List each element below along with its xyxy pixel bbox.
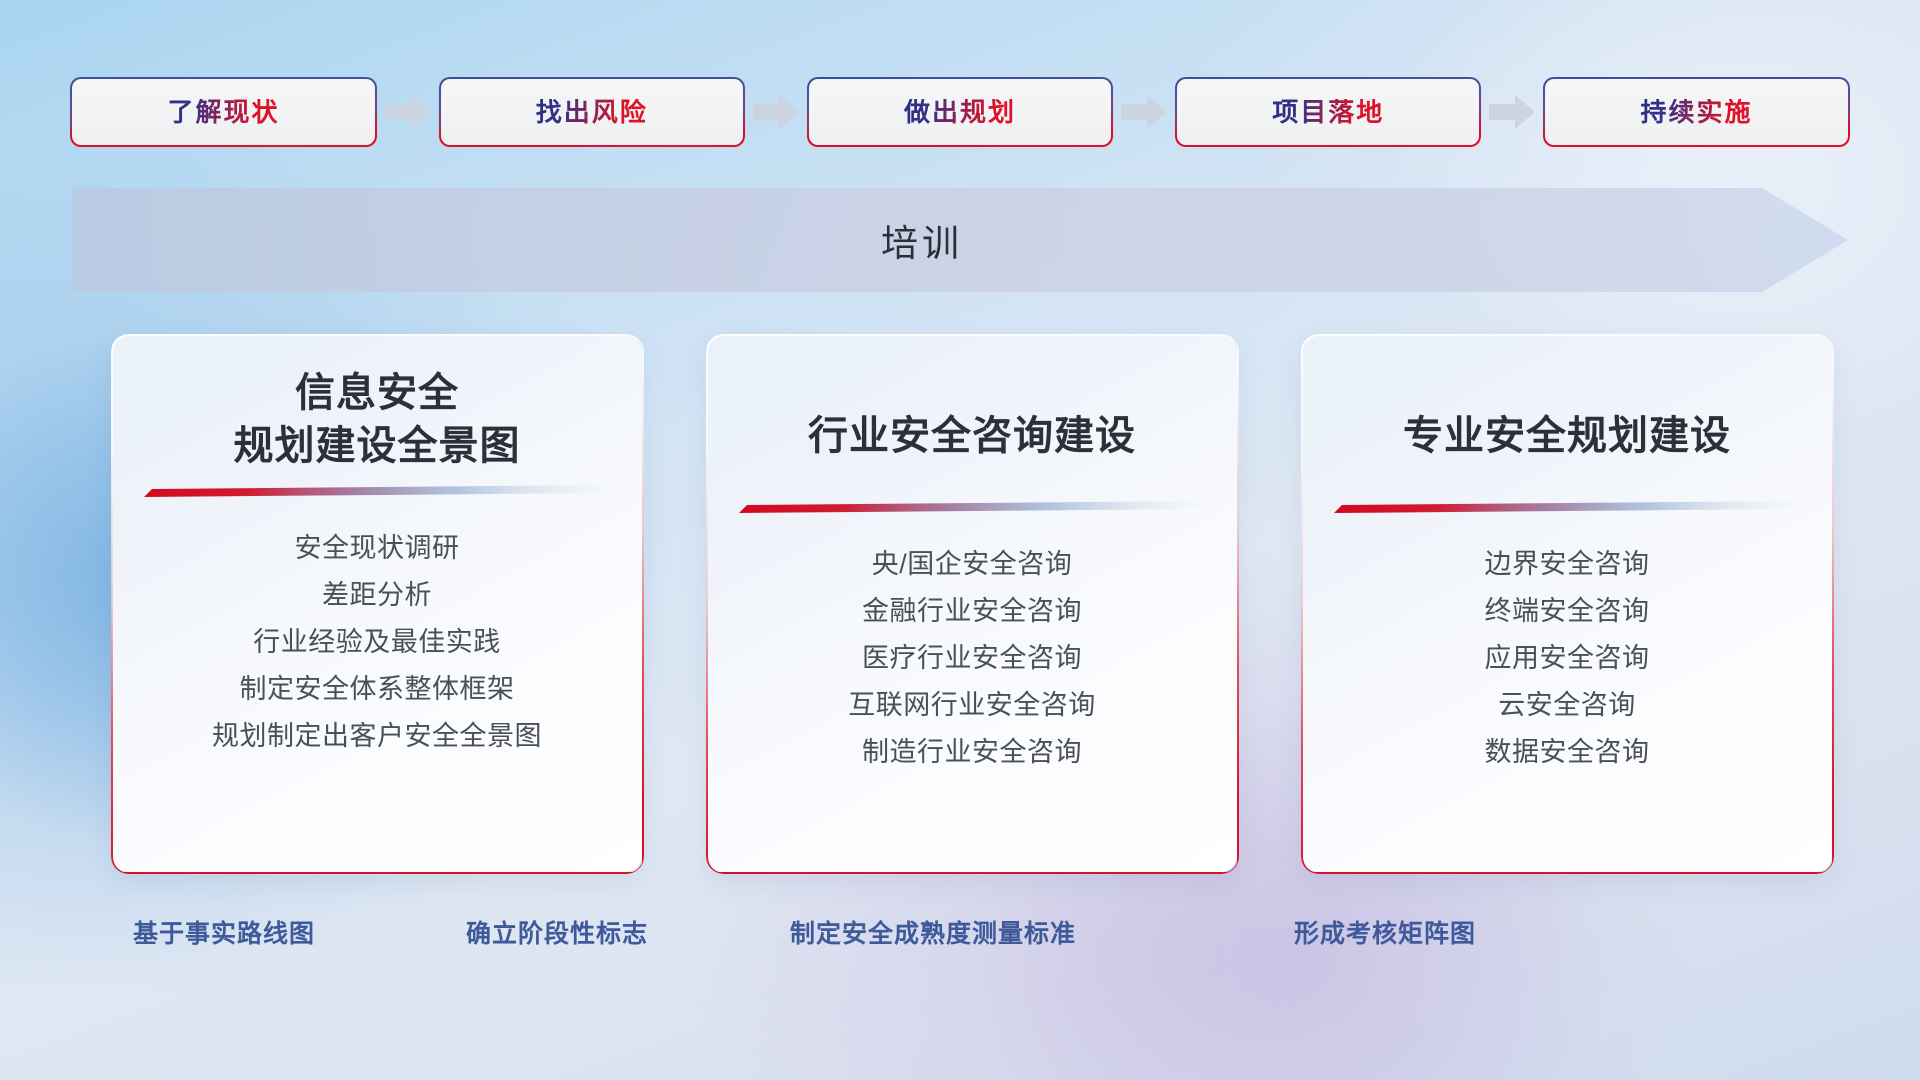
card-row: 信息安全 规划建设全景图 — [112, 335, 1832, 875]
card-title: 专业安全规划建设 — [1403, 381, 1731, 491]
card-title: 信息安全 规划建设全景图 — [234, 365, 521, 475]
list-item: 规划制定出客户安全全景图 — [212, 721, 542, 752]
list-item: 医疗行业安全咨询 — [862, 643, 1082, 674]
arrow-right-icon — [385, 95, 431, 129]
card-title-line: 信息安全 — [234, 367, 521, 420]
list-item: 安全现状调研 — [295, 533, 460, 564]
flow-step-4-label: 项目落地 — [1272, 99, 1384, 125]
process-flow: 了解现状 找出风险 做出规划 项目落地 — [72, 78, 1848, 146]
footer-label-maturity: 制定安全成熟度测量标准 — [790, 912, 1076, 956]
list-item: 金融行业安全咨询 — [862, 596, 1082, 627]
flow-step-1-label: 了解现状 — [167, 99, 279, 125]
list-item: 云安全咨询 — [1498, 690, 1636, 721]
training-banner: 培训 — [72, 188, 1848, 292]
flow-step-5-label: 持续实施 — [1640, 99, 1752, 125]
arrow-right-icon — [1489, 95, 1535, 129]
card-industry-consulting[interactable]: 行业安全咨询建设 — [707, 335, 1237, 872]
footer-label-row: 基于事实路线图 确立阶段性标志 制定安全成熟度测量标准 形成考核矩阵图 — [0, 912, 1920, 956]
list-item: 央/国企安全咨询 — [872, 549, 1073, 580]
card-item-list: 边界安全咨询 终端安全咨询 应用安全咨询 云安全咨询 数据安全咨询 — [1328, 549, 1806, 768]
flow-step-5[interactable]: 持续实施 — [1545, 79, 1848, 145]
training-banner-label: 培训 — [72, 188, 1772, 292]
card-divider — [144, 485, 610, 501]
list-item: 应用安全咨询 — [1485, 643, 1650, 674]
flow-step-3[interactable]: 做出规划 — [809, 79, 1112, 145]
card-title-line: 规划建设全景图 — [234, 420, 521, 473]
flow-step-4[interactable]: 项目落地 — [1177, 79, 1480, 145]
list-item: 终端安全咨询 — [1485, 596, 1650, 627]
infographic-canvas: 了解现状 找出风险 做出规划 项目落地 — [0, 0, 1920, 1080]
list-item: 制造行业安全咨询 — [862, 737, 1082, 768]
list-item: 行业经验及最佳实践 — [253, 627, 501, 658]
flow-step-2[interactable]: 找出风险 — [440, 79, 743, 145]
card-title-line: 专业安全规划建设 — [1403, 410, 1731, 463]
footer-label-milestones: 确立阶段性标志 — [466, 912, 648, 956]
list-item: 互联网行业安全咨询 — [848, 690, 1096, 721]
list-item: 差距分析 — [322, 580, 432, 611]
list-item: 数据安全咨询 — [1485, 737, 1650, 768]
flow-step-2-label: 找出风险 — [536, 99, 648, 125]
card-divider — [739, 501, 1205, 517]
card-item-list: 央/国企安全咨询 金融行业安全咨询 医疗行业安全咨询 互联网行业安全咨询 制造行… — [733, 549, 1211, 768]
card-title: 行业安全咨询建设 — [808, 381, 1136, 491]
card-divider — [1334, 501, 1800, 517]
footer-label-roadmap: 基于事实路线图 — [133, 912, 315, 956]
card-security-overview[interactable]: 信息安全 规划建设全景图 — [112, 335, 642, 872]
card-professional-planning[interactable]: 专业安全规划建设 — [1302, 335, 1832, 872]
list-item: 制定安全体系整体框架 — [240, 674, 515, 705]
flow-step-3-label: 做出规划 — [904, 99, 1016, 125]
arrow-right-icon — [753, 95, 799, 129]
card-item-list: 安全现状调研 差距分析 行业经验及最佳实践 制定安全体系整体框架 规划制定出客户… — [138, 533, 616, 752]
list-item: 边界安全咨询 — [1485, 549, 1650, 580]
card-title-line: 行业安全咨询建设 — [808, 410, 1136, 463]
arrow-right-icon — [1121, 95, 1167, 129]
footer-label-matrix: 形成考核矩阵图 — [1294, 912, 1476, 956]
flow-step-1[interactable]: 了解现状 — [72, 79, 375, 145]
